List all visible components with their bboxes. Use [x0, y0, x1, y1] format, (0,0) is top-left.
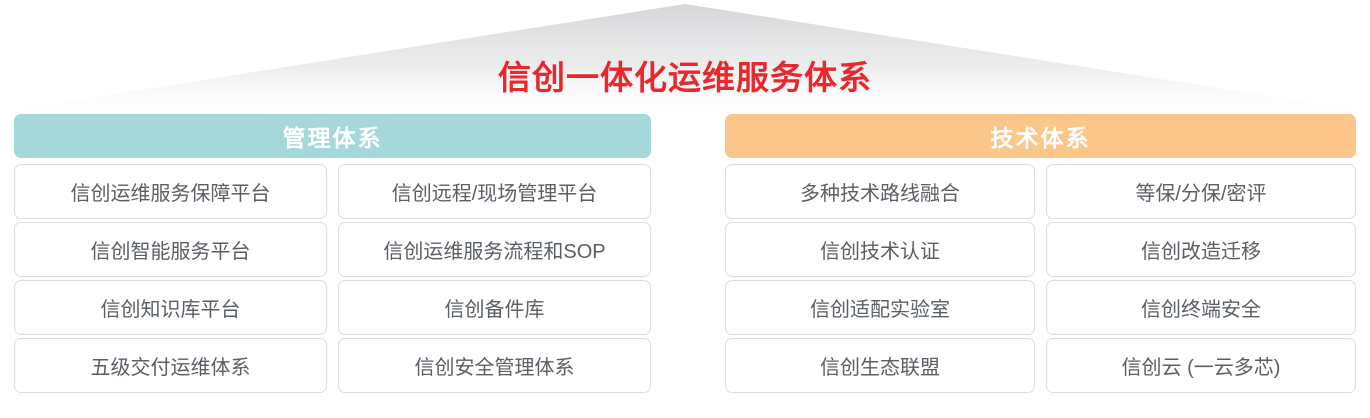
- list-item[interactable]: 信创远程/现场管理平台: [338, 164, 651, 219]
- list-item[interactable]: 多种技术路线融合: [725, 164, 1035, 219]
- list-item[interactable]: 信创备件库: [338, 280, 651, 335]
- panel-technology-grid: 多种技术路线融合 等保/分保/密评 信创技术认证 信创改造迁移 信创适配实验室 …: [725, 164, 1356, 393]
- list-item[interactable]: 等保/分保/密评: [1046, 164, 1356, 219]
- list-item[interactable]: 五级交付运维体系: [14, 338, 327, 393]
- list-item[interactable]: 信创知识库平台: [14, 280, 327, 335]
- list-item[interactable]: 信创安全管理体系: [338, 338, 651, 393]
- list-item[interactable]: 信创改造迁移: [1046, 222, 1356, 277]
- panel-management-grid: 信创运维服务保障平台 信创远程/现场管理平台 信创智能服务平台 信创运维服务流程…: [14, 164, 651, 393]
- list-item[interactable]: 信创智能服务平台: [14, 222, 327, 277]
- panel-technology: 技术体系 多种技术路线融合 等保/分保/密评 信创技术认证 信创改造迁移 信创适…: [725, 114, 1356, 393]
- list-item[interactable]: 信创适配实验室: [725, 280, 1035, 335]
- page-title: 信创一体化运维服务体系: [0, 58, 1370, 98]
- list-item[interactable]: 信创生态联盟: [725, 338, 1035, 393]
- list-item[interactable]: 信创云 (一云多芯): [1046, 338, 1356, 393]
- list-item[interactable]: 信创运维服务保障平台: [14, 164, 327, 219]
- list-item[interactable]: 信创运维服务流程和SOP: [338, 222, 651, 277]
- panel-management-header: 管理体系: [14, 114, 651, 158]
- panel-management: 管理体系 信创运维服务保障平台 信创远程/现场管理平台 信创智能服务平台 信创运…: [14, 114, 651, 393]
- list-item[interactable]: 信创终端安全: [1046, 280, 1356, 335]
- list-item[interactable]: 信创技术认证: [725, 222, 1035, 277]
- panel-technology-header: 技术体系: [725, 114, 1356, 158]
